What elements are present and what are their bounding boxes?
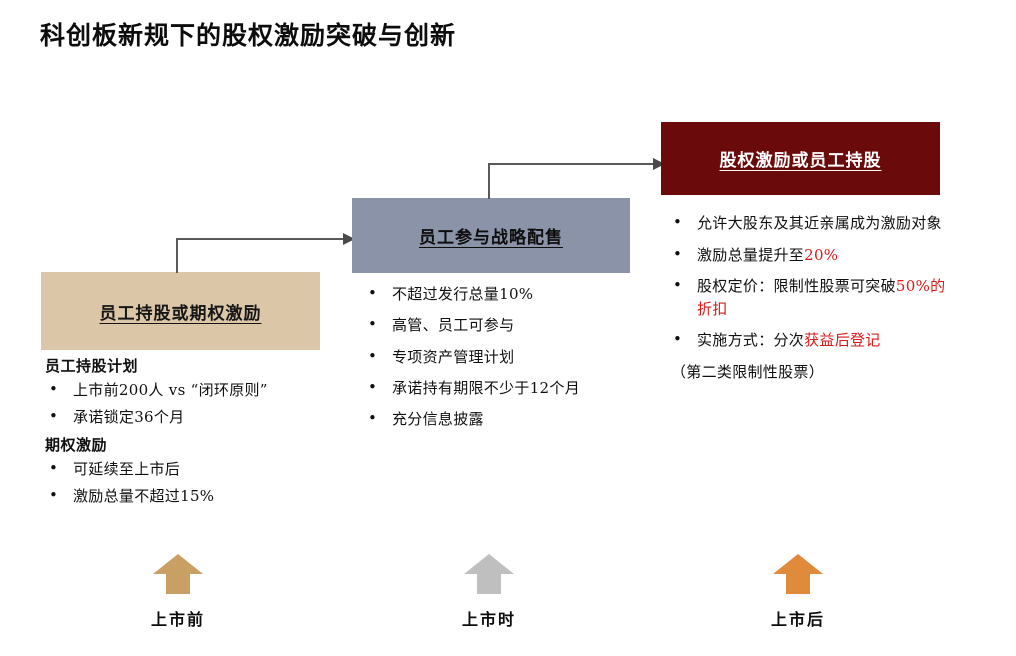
up-arrow-icon [151,552,205,596]
list-item: 充分信息披露 [360,408,650,431]
list-item-text: 激励总量提升至 [697,246,804,264]
stage-box-post-ipo[interactable]: 股权激励或员工持股 [661,122,940,195]
stage-box-pre-ipo-title: 员工持股或期权激励 [100,299,262,324]
timeline-label-post-ipo: 上市后 [738,606,858,630]
list-item: 专项资产管理计划 [360,346,650,369]
group-heading-options: 期权激励 [45,434,341,455]
list-item: 可延续至上市后 [41,458,341,481]
list-item-text: 实施方式：分次 [697,331,804,349]
stage-box-post-ipo-title: 股权激励或员工持股 [720,146,882,171]
slide-canvas: 科创板新规下的股权激励突破与创新 员工持股或期权激励 员工参与战略配售 股权激励… [0,0,1016,656]
connector-arrow-pre-to-at [175,233,357,275]
timeline-marker-pre-ipo: 上市前 [118,552,238,630]
list-item: 股权定价：限制性股票可突破50%的折扣 [665,275,955,320]
up-arrow-icon [771,552,825,596]
page-title: 科创板新规下的股权激励突破与创新 [40,16,456,52]
timeline-marker-at-ipo: 上市时 [429,552,549,630]
list-item: 激励总量不超过15% [41,485,341,508]
list-item: 高管、员工可参与 [360,314,650,337]
details-column-post-ipo: 允许大股东及其近亲属成为激励对象 激励总量提升至20% 股权定价：限制性股票可突… [665,212,955,383]
timeline-label-pre-ipo: 上市前 [118,606,238,630]
list-item: 上市前200人 vs “闭环原则” [41,379,341,402]
list-item-text: 股权定价：限制性股票可突破 [697,277,896,295]
bullet-list-at-ipo: 不超过发行总量10% 高管、员工可参与 专项资产管理计划 承诺持有期限不少于12… [360,283,650,431]
timeline-marker-post-ipo: 上市后 [738,552,858,630]
list-item-text: 允许大股东及其近亲属成为激励对象 [697,214,942,232]
list-item: 实施方式：分次获益后登记 [665,329,955,352]
details-column-at-ipo: 不超过发行总量10% 高管、员工可参与 专项资产管理计划 承诺持有期限不少于12… [360,283,650,439]
timeline-label-at-ipo: 上市时 [429,606,549,630]
connector-arrow-at-to-post [487,158,667,201]
stage-box-at-ipo[interactable]: 员工参与战略配售 [352,198,630,273]
list-item: 不超过发行总量10% [360,283,650,306]
bullet-list-post-ipo: 允许大股东及其近亲属成为激励对象 激励总量提升至20% 股权定价：限制性股票可突… [665,212,955,352]
details-column-pre-ipo: 员工持股计划 上市前200人 vs “闭环原则” 承诺锁定36个月 期权激励 可… [41,355,341,512]
bullet-list-options: 可延续至上市后 激励总量不超过15% [41,458,341,509]
list-item: 承诺持有期限不少于12个月 [360,377,650,400]
post-ipo-note: （第二类限制性股票） [665,361,955,384]
up-arrow-icon [462,552,516,596]
stage-box-pre-ipo[interactable]: 员工持股或期权激励 [41,272,320,350]
bullet-list-esop: 上市前200人 vs “闭环原则” 承诺锁定36个月 [41,379,341,430]
group-heading-esop: 员工持股计划 [45,355,341,376]
list-item-highlight: 20% [804,246,838,264]
stage-box-at-ipo-title: 员工参与战略配售 [419,223,563,248]
list-item-highlight: 获益后登记 [804,331,881,349]
list-item: 激励总量提升至20% [665,244,955,267]
list-item: 承诺锁定36个月 [41,406,341,429]
list-item: 允许大股东及其近亲属成为激励对象 [665,212,955,235]
